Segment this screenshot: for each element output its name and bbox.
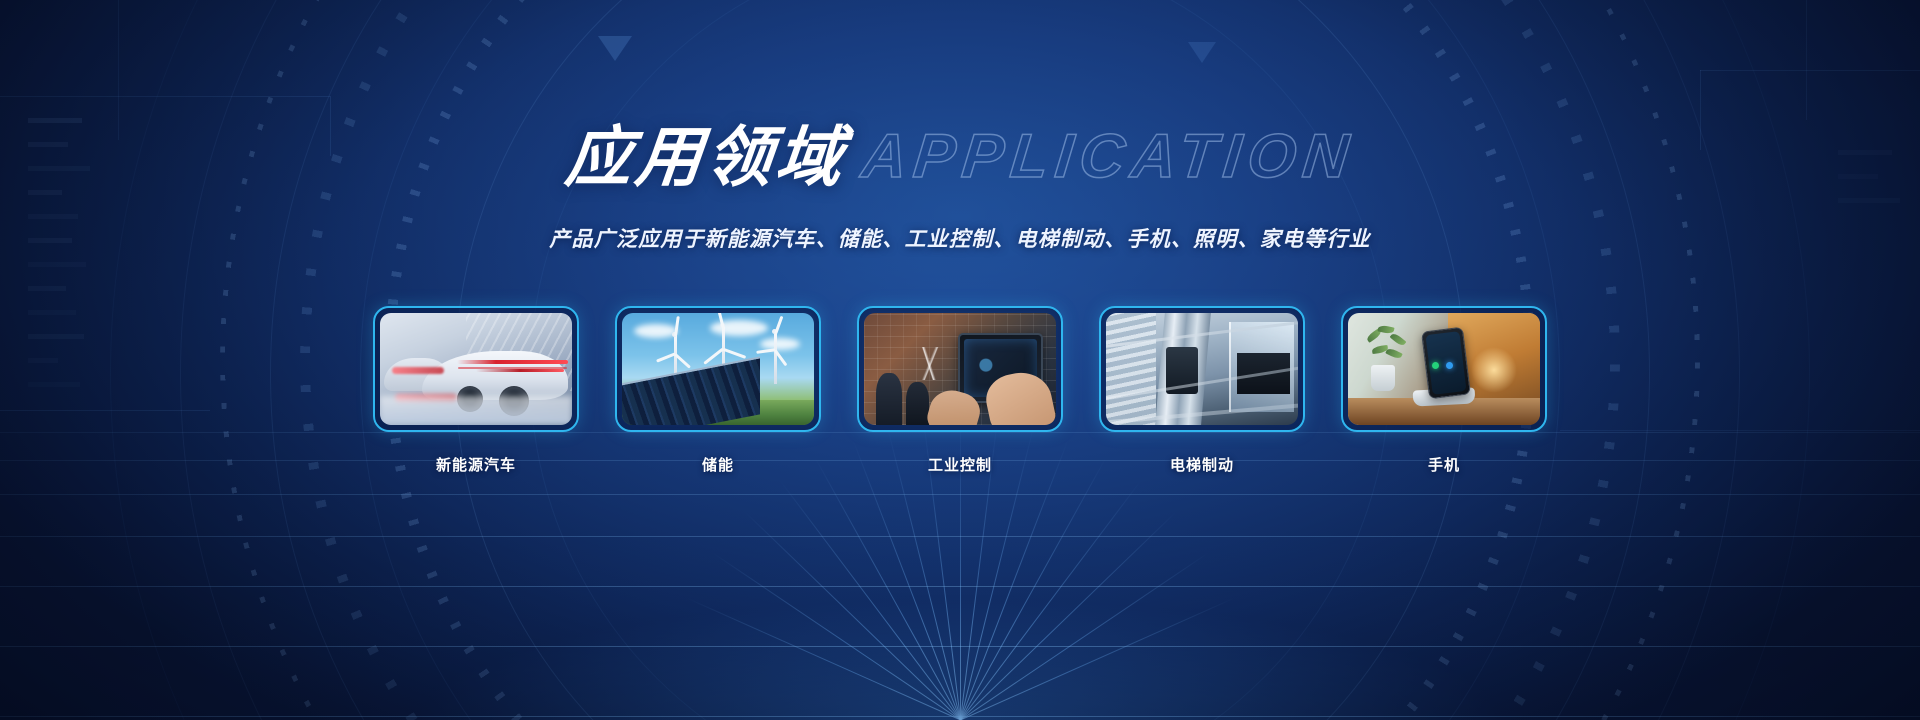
page-title-cn: 应用领域 (562, 124, 849, 190)
application-card-elevator-brake[interactable]: 电梯制动 (1099, 306, 1305, 475)
card-label: 电梯制动 (1099, 454, 1305, 475)
card-frame (615, 306, 821, 432)
card-label: 手机 (1341, 454, 1547, 475)
ev-car-photo (380, 313, 572, 425)
solar-wind-farm-photo (622, 313, 814, 425)
industrial-control-tablet-photo (864, 313, 1056, 425)
card-label: 新能源汽车 (373, 454, 579, 475)
elevator-shaft-photo (1106, 313, 1298, 425)
card-frame (1341, 306, 1547, 432)
banner-heading: 应用领域 APPLICATION (0, 124, 1920, 190)
banner-content: 应用领域 APPLICATION 产品广泛应用于新能源汽车、储能、工业控制、电梯… (0, 0, 1920, 720)
card-label: 储能 (615, 454, 821, 475)
application-card-ev-car[interactable]: 新能源汽车 (373, 306, 579, 475)
card-frame (373, 306, 579, 432)
card-frame (857, 306, 1063, 432)
application-card-mobile-phone[interactable]: 手机 (1341, 306, 1547, 475)
application-card-list: 新能源汽车 (0, 306, 1920, 475)
application-card-industrial-control[interactable]: 工业控制 (857, 306, 1063, 475)
application-card-energy-storage[interactable]: 储能 (615, 306, 821, 475)
page-title-en: APPLICATION (859, 126, 1358, 188)
card-label: 工业控制 (857, 454, 1063, 475)
card-frame (1099, 306, 1305, 432)
banner-subtitle: 产品广泛应用于新能源汽车、储能、工业控制、电梯制动、手机、照明、家电等行业 (0, 223, 1920, 253)
smartphone-wireless-charger-photo (1348, 313, 1540, 425)
